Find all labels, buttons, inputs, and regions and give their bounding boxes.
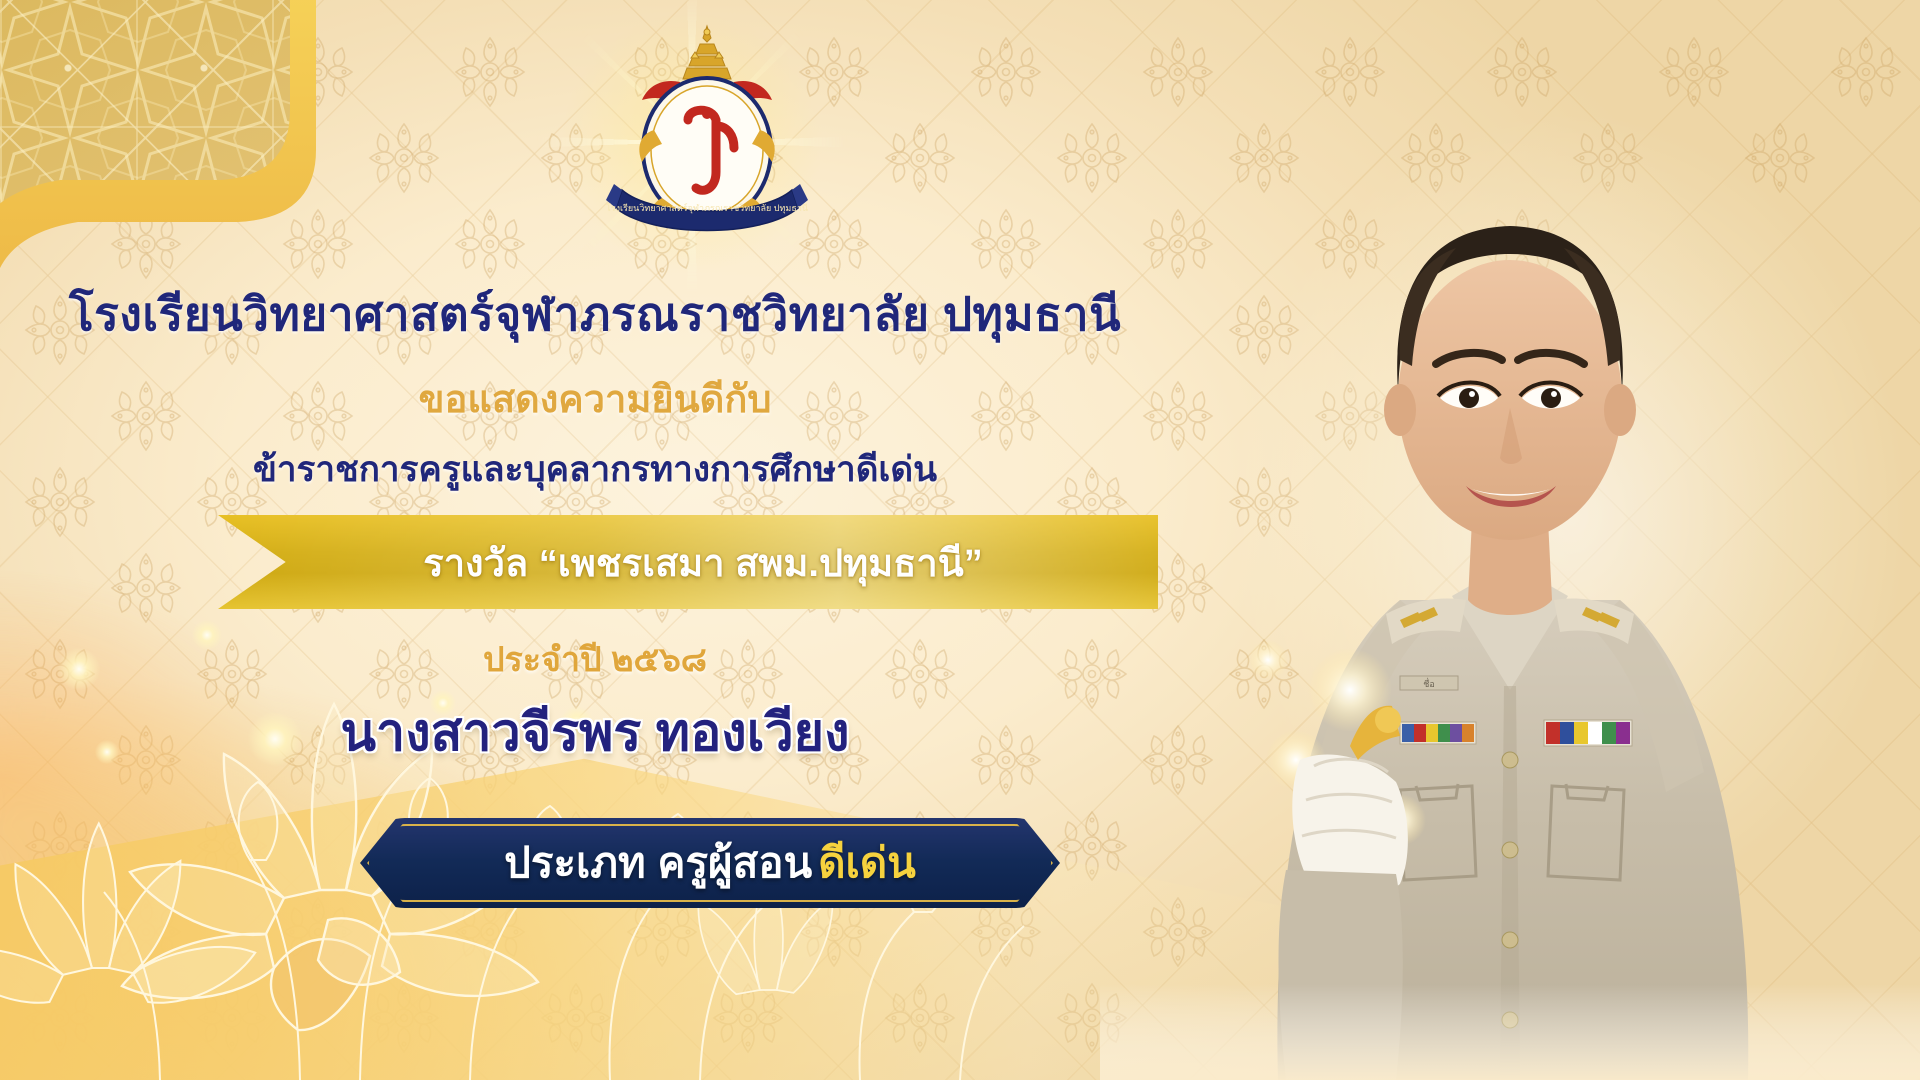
- organization-title: โรงเรียนวิทยาศาสตร์จุฬาภรณราชวิทยาลัย ปท…: [0, 278, 1190, 351]
- award-type-prefix: ประเภท ครูผู้สอน: [504, 830, 812, 896]
- congratulation-banner: โรงเรียนวิทยาศาสตร์จุฬาภรณราชวิทยาลัย ปท…: [0, 0, 1920, 1080]
- text-content: โรงเรียนวิทยาศาสตร์จุฬาภรณราชวิทยาลัย ปท…: [0, 0, 1190, 1080]
- recipient-category-line: ข้าราชการครูและบุคลากรทางการศึกษาดีเด่น: [0, 442, 1190, 497]
- award-ribbon-text: รางวัล “เพชรเสมา สพม.ปทุมธานี”: [218, 515, 1158, 609]
- recipient-portrait: ชื่อ: [1100, 0, 1920, 1080]
- face: [1398, 260, 1622, 540]
- badge-text: ประเภท ครูผู้สอน ดีเด่น: [360, 818, 1060, 908]
- congratulation-line: ขอแสดงความยินดีกับ: [0, 368, 1190, 429]
- award-ribbon: รางวัล “เพชรเสมา สพม.ปทุมธานี”: [218, 515, 1158, 609]
- recipient-name: นางสาวจีรพร ทองเวียง: [0, 690, 1190, 773]
- svg-text:ชื่อ: ชื่อ: [1423, 677, 1435, 689]
- award-type-badge: ประเภท ครูผู้สอน ดีเด่น: [360, 818, 1060, 908]
- award-year-line: ประจำปี ๒๕๖๘: [0, 632, 1190, 686]
- award-type-highlight: ดีเด่น: [818, 830, 916, 896]
